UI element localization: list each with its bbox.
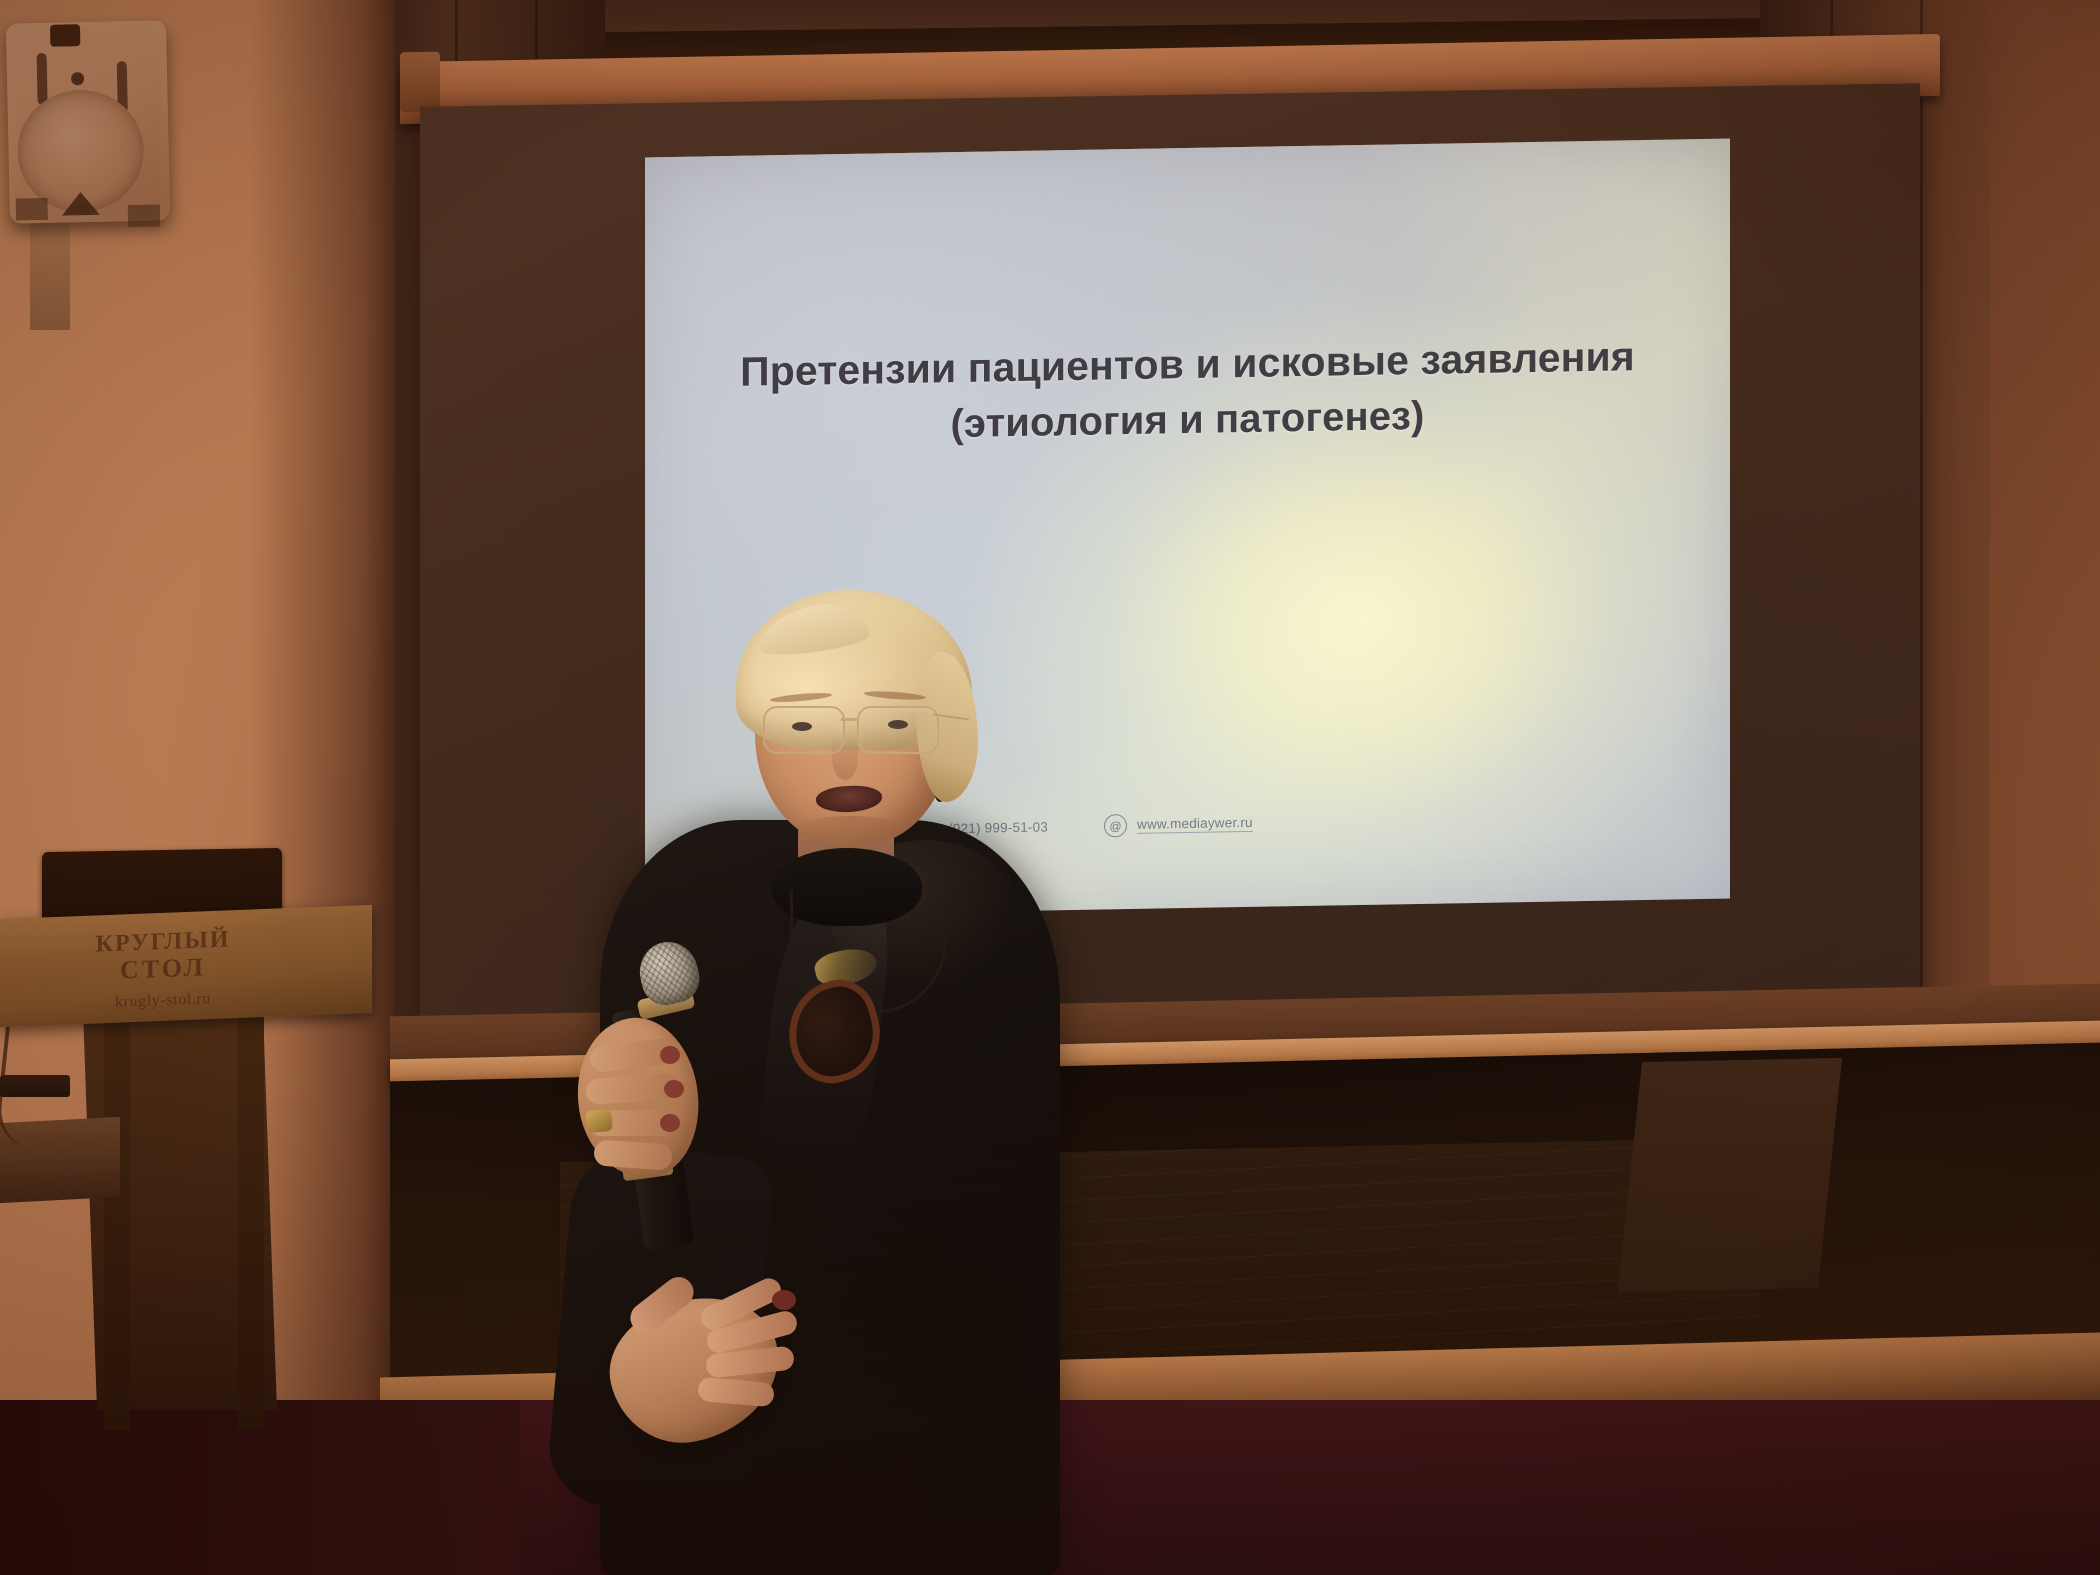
screen-roller-endcap — [400, 52, 440, 113]
slide-title: Претензии пациентов и исковые заявления … — [645, 327, 1730, 458]
left-wall-shadow — [250, 0, 410, 1400]
lectern-plaque: КРУГЛЫЙ СТОЛ krugly-stol.ru — [48, 926, 278, 1027]
fingernail — [660, 1046, 680, 1064]
slide-title-line-2: (этиология и патогенез) — [671, 384, 1704, 457]
chin-shadow — [790, 816, 910, 850]
speaker-mount-icon — [50, 24, 80, 47]
finger — [593, 1139, 673, 1170]
speaker-bracket — [30, 210, 70, 330]
photo-scene: Претензии пациентов и исковые заявления … — [0, 0, 2100, 1575]
lectern-brand-site: krugly-stol.ru — [48, 989, 278, 1014]
lectern-leg — [104, 1010, 130, 1430]
pa-speaker — [6, 20, 170, 223]
speaker-grille — [128, 205, 160, 228]
lens-left — [763, 706, 845, 754]
fingernail — [664, 1080, 684, 1098]
eyeglasses-icon — [761, 706, 961, 754]
speaker-grille — [16, 198, 48, 221]
speaker-brand-triangle-icon — [61, 192, 99, 216]
lens-right — [857, 706, 939, 754]
fingernail-dark — [772, 1290, 796, 1310]
footer-website: www.mediaywer.ru — [1137, 815, 1253, 834]
fingernail — [660, 1114, 680, 1132]
slide-title-line-1: Претензии пациентов и исковые заявления — [740, 333, 1635, 395]
keyboard — [0, 1075, 70, 1097]
speaker-screw — [71, 72, 84, 85]
speaker-port — [37, 53, 48, 105]
finger-ring — [585, 1109, 613, 1134]
lectern-leg — [238, 1010, 264, 1430]
stage-riser — [1618, 1058, 1842, 1292]
presenter — [620, 590, 1140, 1575]
glasses-bridge — [841, 718, 859, 721]
